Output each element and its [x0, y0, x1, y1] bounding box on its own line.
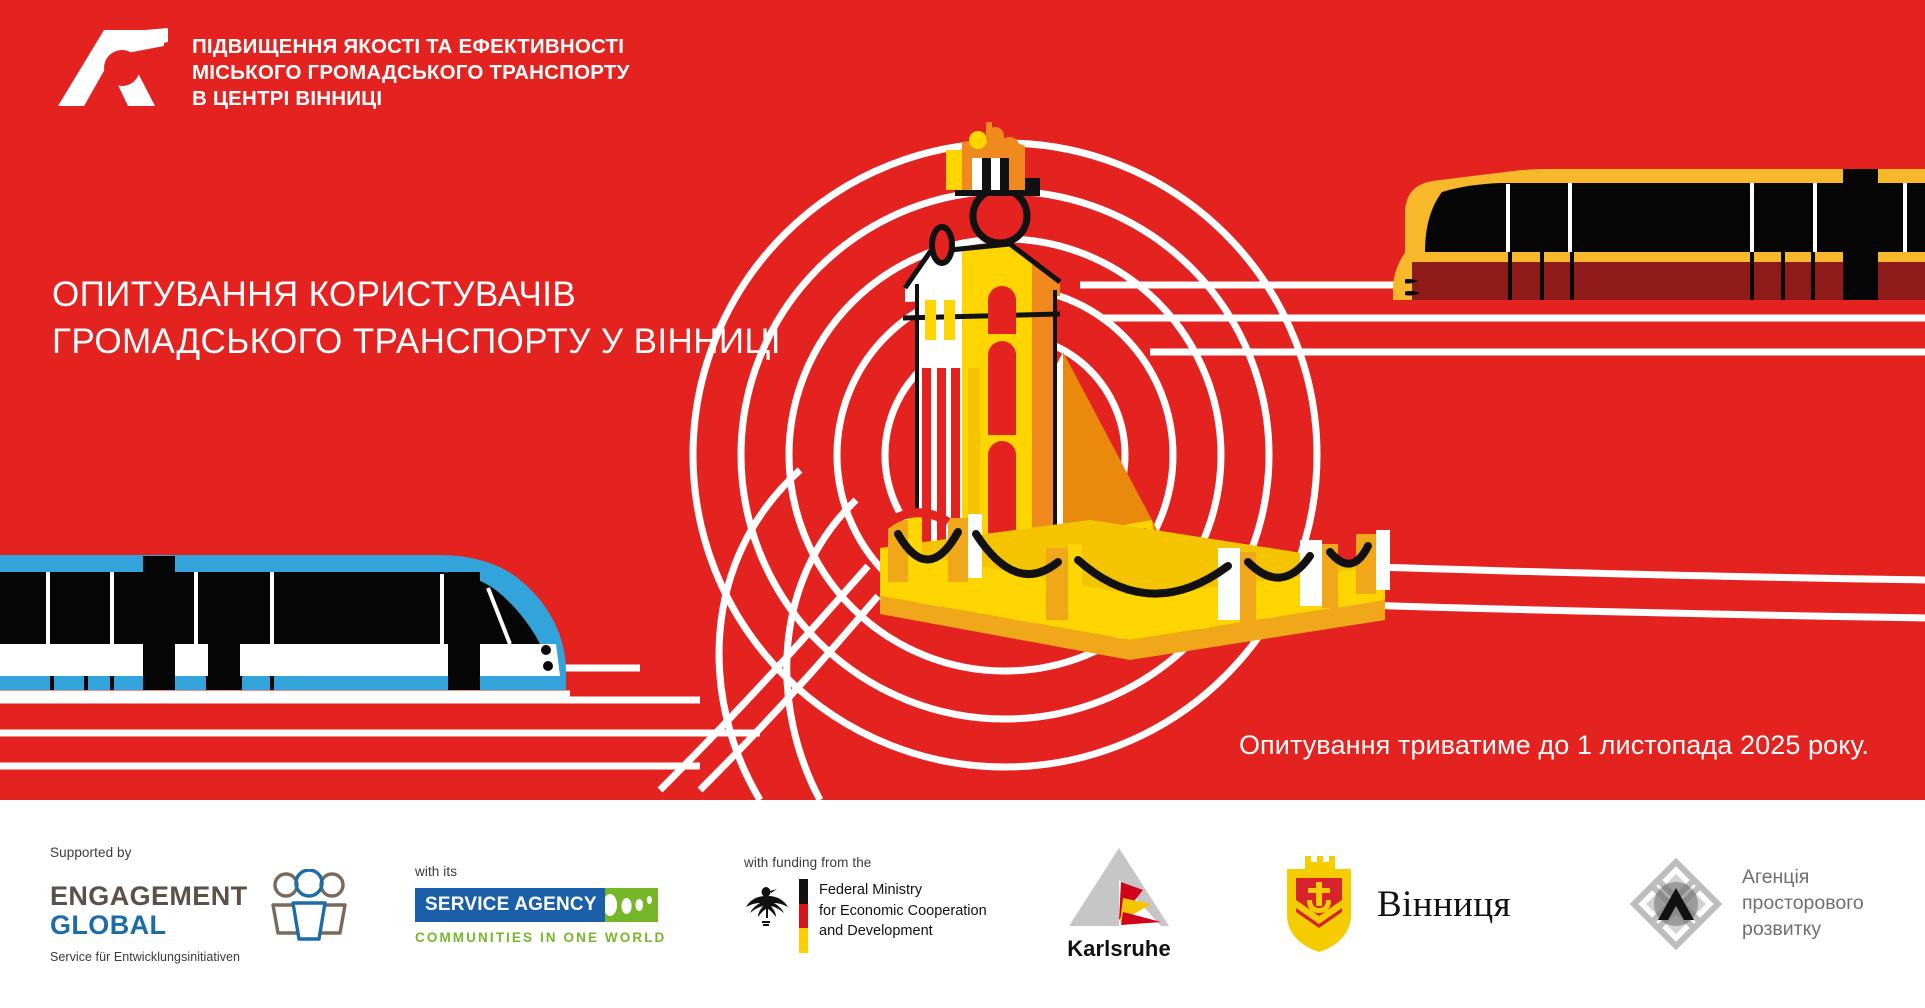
- engagement-global-kicker: Supported by: [50, 845, 348, 860]
- logo-federal-ministry: with funding from the Federal: [744, 800, 987, 1008]
- logo-spatial-agency: Агенція просторового розвитку: [1628, 800, 1864, 1008]
- three-people-icon: [270, 869, 348, 941]
- federal-ministry-kicker: with funding from the: [744, 855, 987, 870]
- federal-ministry-name: Federal Ministry for Economic Cooperatio…: [819, 879, 987, 942]
- engagement-global-word2: GLOBAL: [50, 911, 248, 941]
- logo-vinnytsia: Вінниця: [1283, 800, 1511, 1008]
- project-title: ПІДВИЩЕННЯ ЯКОСТІ ТА ЕФЕКТИВНОСТІ МІСЬКО…: [192, 28, 630, 113]
- survey-deadline-text: Опитування триватиме до 1 листопада 2025…: [1239, 730, 1869, 761]
- vinnytsia-name: Вінниця: [1377, 883, 1511, 926]
- german-flag-bar-icon: [799, 879, 808, 953]
- service-agency-kicker: with its: [415, 864, 666, 879]
- spatial-development-agency-icon: [1628, 856, 1724, 952]
- partner-logos-footer: Supported by ENGAGEMENT GLOBAL Service f…: [0, 800, 1925, 1008]
- service-agency-name: SERVICE AGENCY: [415, 888, 605, 922]
- service-agency-bar: SERVICE AGENCY: [415, 888, 658, 922]
- logo-karlsruhe: Karlsruhe: [1065, 800, 1173, 1008]
- logo-service-agency: with its SERVICE AGENCY COMMUNITIES IN O…: [415, 800, 666, 1008]
- hero-banner: ПІДВИЩЕННЯ ЯКОСТІ ТА ЕФЕКТИВНОСТІ МІСЬКО…: [0, 0, 1925, 800]
- karlsruhe-pyramid-icon: [1065, 846, 1173, 932]
- brand-row: ПІДВИЩЕННЯ ЯКОСТІ ТА ЕФЕКТИВНОСТІ МІСЬКО…: [56, 28, 630, 113]
- engagement-global-word1: ENGAGEMENT: [50, 883, 248, 911]
- yellow-tram-icon: [1393, 169, 1925, 300]
- karlsruhe-name: Karlsruhe: [1067, 936, 1171, 962]
- logo-engagement-global: Supported by ENGAGEMENT GLOBAL Service f…: [50, 800, 348, 1008]
- hero-illustration: [0, 0, 1925, 800]
- blue-tram-icon: [0, 555, 570, 694]
- page-title: ОПИТУВАННЯ КОРИСТУВАЧІВ ГРОМАДСЬКОГО ТРА…: [52, 272, 781, 365]
- service-agency-tagline: COMMUNITIES IN ONE WORLD: [415, 930, 666, 945]
- engagement-global-subtitle: Service für Entwicklungsinitiativen: [50, 950, 348, 964]
- service-agency-dots-icon: [605, 888, 658, 922]
- german-eagle-icon: [744, 879, 788, 927]
- vinnytsia-coat-of-arms-icon: [1283, 856, 1355, 952]
- spatial-agency-name: Агенція просторового розвитку: [1742, 865, 1864, 943]
- poster-root: ПІДВИЩЕННЯ ЯКОСТІ ТА ЕФЕКТИВНОСТІ МІСЬКО…: [0, 0, 1925, 1008]
- project-chevron-circle-logo-icon: [56, 28, 168, 106]
